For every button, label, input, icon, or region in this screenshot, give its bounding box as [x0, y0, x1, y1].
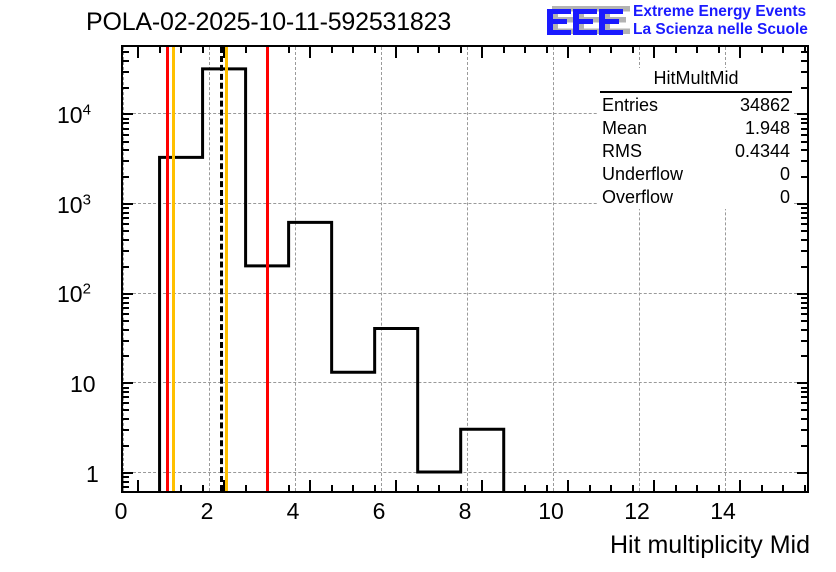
marker-line-mean-dashed [220, 47, 223, 491]
stats-value-overflow: 0 [780, 186, 790, 209]
stats-row-mean: Mean 1.948 [598, 117, 794, 140]
stats-value-mean: 1.948 [745, 117, 790, 140]
eee-logo-mark [545, 3, 630, 39]
stats-value-rms: 0.4344 [735, 140, 790, 163]
x-ticklabel-6: 6 [373, 498, 386, 525]
stats-row-rms: RMS 0.4344 [598, 140, 794, 163]
x-ticklabel-8: 8 [459, 498, 472, 525]
stats-row-underflow: Underflow 0 [598, 163, 794, 186]
stats-label-rms: RMS [602, 140, 642, 163]
y-ticklabel-10: 10 [70, 371, 96, 398]
stats-value-entries: 34862 [740, 94, 790, 117]
x-ticklabel-12: 12 [624, 498, 650, 525]
x-ticklabel-14: 14 [710, 498, 736, 525]
stats-title: HitMultMid [600, 68, 792, 93]
marker-line-orange-lower [172, 47, 175, 491]
y-ticklabel-1000: 103 [57, 192, 91, 219]
y-ticklabel-100: 102 [57, 281, 91, 308]
stats-box: HitMultMid Entries 34862 Mean 1.948 RMS … [598, 68, 794, 209]
marker-line-red-upper [266, 47, 269, 491]
stats-label-overflow: Overflow [602, 186, 673, 209]
marker-line-orange-upper [225, 47, 228, 491]
eee-logo-text: Extreme Energy Events La Scienza nelle S… [633, 3, 808, 39]
stats-value-underflow: 0 [780, 163, 790, 186]
x-axis-title: Hit multiplicity Mid [610, 531, 810, 560]
page-title: POLA-02-2025-10-11-592531823 [86, 8, 451, 37]
x-ticklabel-2: 2 [201, 498, 214, 525]
stats-label-mean: Mean [602, 117, 647, 140]
eee-logo-line1: Extreme Energy Events [633, 3, 808, 21]
stats-label-underflow: Underflow [602, 163, 683, 186]
y-ticklabel-1: 1 [86, 461, 99, 488]
eee-logo-line2: La Scienza nelle Scuole [633, 21, 808, 39]
x-ticklabel-0: 0 [115, 498, 128, 525]
eee-logo: Extreme Energy Events La Scienza nelle S… [545, 3, 833, 43]
root-canvas: POLA-02-2025-10-11-592531823 [0, 0, 836, 572]
marker-line-red-lower [166, 47, 169, 491]
x-ticklabel-10: 10 [538, 498, 564, 525]
y-ticklabel-10000: 104 [57, 102, 91, 129]
stats-row-overflow: Overflow 0 [598, 186, 794, 209]
stats-label-entries: Entries [602, 94, 658, 117]
x-ticklabel-4: 4 [287, 498, 300, 525]
stats-row-entries: Entries 34862 [598, 94, 794, 117]
